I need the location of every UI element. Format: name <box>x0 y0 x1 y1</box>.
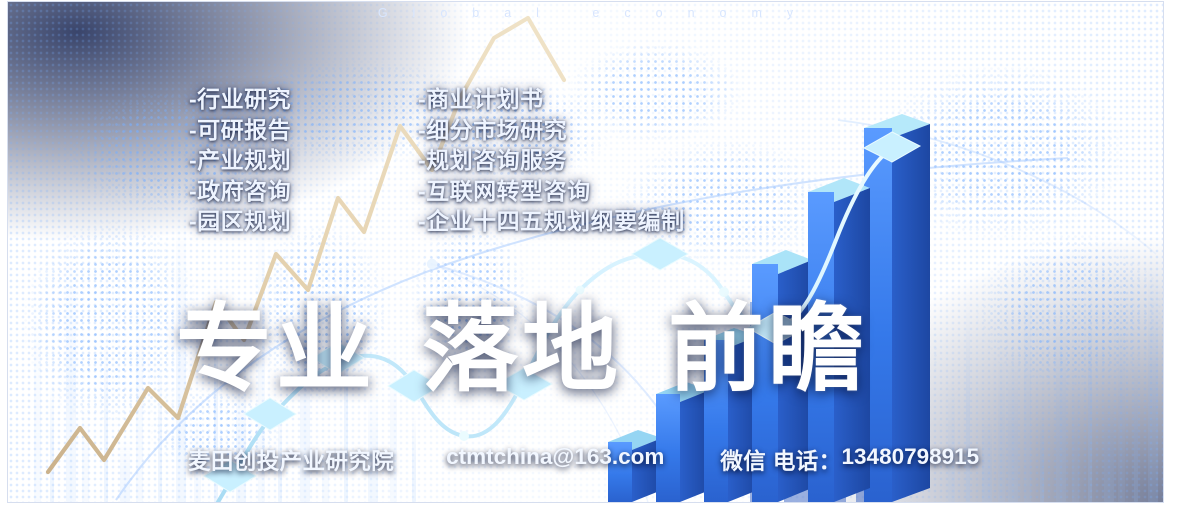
service-item: -细分市场研究 <box>418 115 685 146</box>
phone-label: 微信 电话： <box>720 444 841 476</box>
contact-line: 麦田创投产业研究院ctmtchina@163.com微信 电话：13480798… <box>188 444 979 476</box>
headline-word-3: 前瞻 <box>668 296 868 403</box>
service-item: -园区规划 <box>189 206 291 237</box>
organization-name: 麦田创投产业研究院 <box>188 444 394 476</box>
headline: 专业落地前瞻 <box>176 300 868 401</box>
headline-word-1: 专业 <box>176 296 376 403</box>
services-column-left: -行业研究 -可研报告 -产业规划 -政府咨询 -园区规划 <box>189 84 291 237</box>
service-item: -互联网转型咨询 <box>418 176 685 207</box>
promo-banner: Global economy -行业研究 -可研报告 -产业规划 -政府咨询 -… <box>8 2 1163 502</box>
kicker-global-economy: Global economy <box>8 6 1163 20</box>
service-item: -产业规划 <box>189 145 291 176</box>
service-item: -规划咨询服务 <box>418 145 685 176</box>
service-item: -行业研究 <box>189 84 291 115</box>
service-item: -可研报告 <box>189 115 291 146</box>
service-item: -政府咨询 <box>189 176 291 207</box>
contact-phone: 13480798915 <box>842 444 980 470</box>
screenshot-root: Global economy -行业研究 -可研报告 -产业规划 -政府咨询 -… <box>0 0 1177 514</box>
world-map-dot-texture-secondary <box>8 2 1163 502</box>
headline-word-2: 落地 <box>422 296 622 403</box>
contact-email: ctmtchina@163.com <box>446 444 664 470</box>
services-column-right: -商业计划书 -细分市场研究 -规划咨询服务 -互联网转型咨询 -企业十四五规划… <box>418 84 685 237</box>
service-item: -企业十四五规划纲要编制 <box>418 206 685 237</box>
service-item: -商业计划书 <box>418 84 685 115</box>
